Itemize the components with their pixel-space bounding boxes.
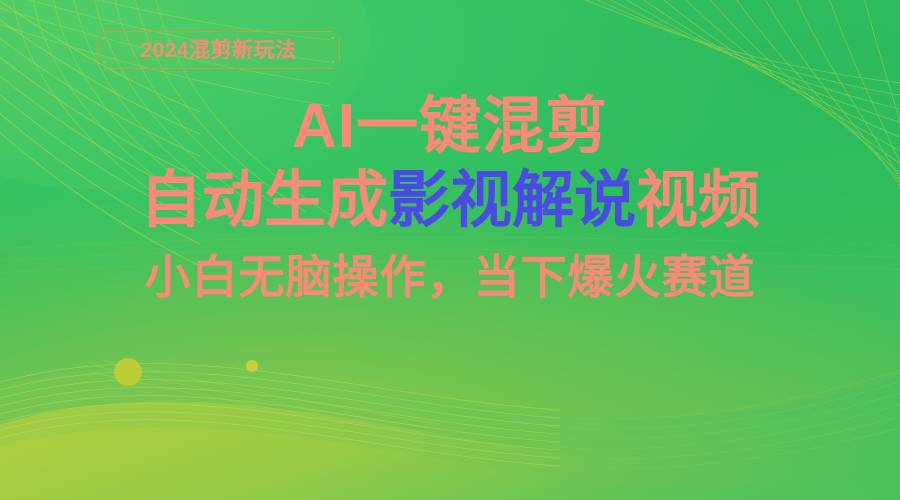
tagline-badge-text: 2024混剪新玩法 bbox=[140, 40, 296, 61]
headline-line-2-segment-3: 视频 bbox=[636, 166, 760, 235]
decorative-circle-small bbox=[246, 360, 258, 372]
headline-line-1: AI一键混剪 bbox=[0, 96, 900, 158]
headline-line-3: 小白无脑操作，当下爆火赛道 bbox=[0, 254, 900, 300]
headline-line-2-segment-2: 影视解说 bbox=[388, 166, 636, 235]
headline-line-2-segment-1: 自动生成 bbox=[140, 166, 388, 235]
headline-line-2: 自动生成影视解说视频 bbox=[0, 170, 900, 232]
promo-banner: 2024混剪新玩法 AI一键混剪 自动生成影视解说视频 小白无脑操作，当下爆火赛… bbox=[0, 0, 900, 500]
tagline-badge: 2024混剪新玩法 bbox=[97, 31, 340, 69]
decorative-circle-large bbox=[114, 358, 142, 386]
headline-block: AI一键混剪 自动生成影视解说视频 小白无脑操作，当下爆火赛道 bbox=[0, 96, 900, 300]
